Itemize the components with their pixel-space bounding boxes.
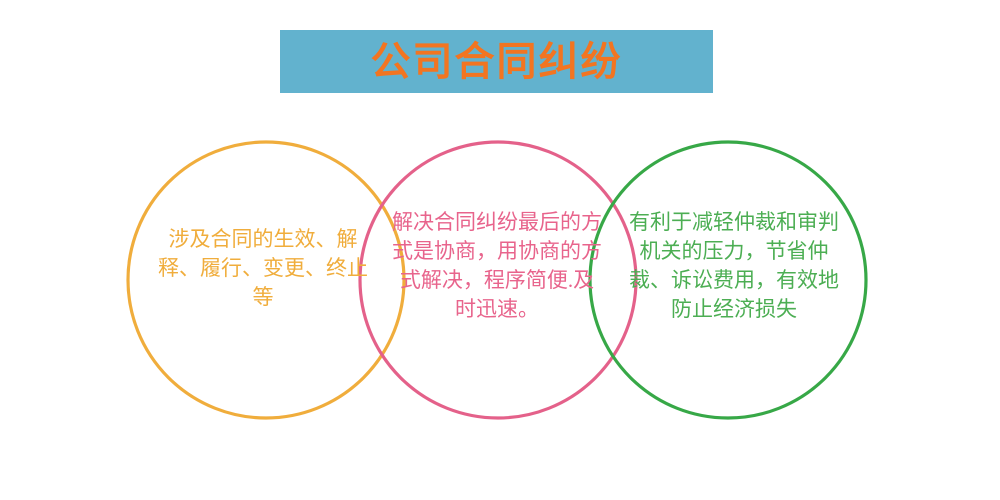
circle-label-middle: 解决合同纠纷最后的方式是协商，用协商的方式解决，程序简便.及时迅速。 [392,208,602,324]
circle-label-left: 涉及合同的生效、解释、履行、变更、终止等 [148,225,378,312]
header-banner: 公司合同纠纷 [280,30,713,93]
page-title: 公司合同纠纷 [371,42,623,82]
circle-label-right: 有利于减轻仲裁和审判机关的压力，节省仲裁、诉讼费用，有效地防止经济损失 [628,208,840,324]
venn-diagram: 涉及合同的生效、解释、履行、变更、终止等 解决合同纠纷最后的方式是协商，用协商的… [0,100,1000,440]
